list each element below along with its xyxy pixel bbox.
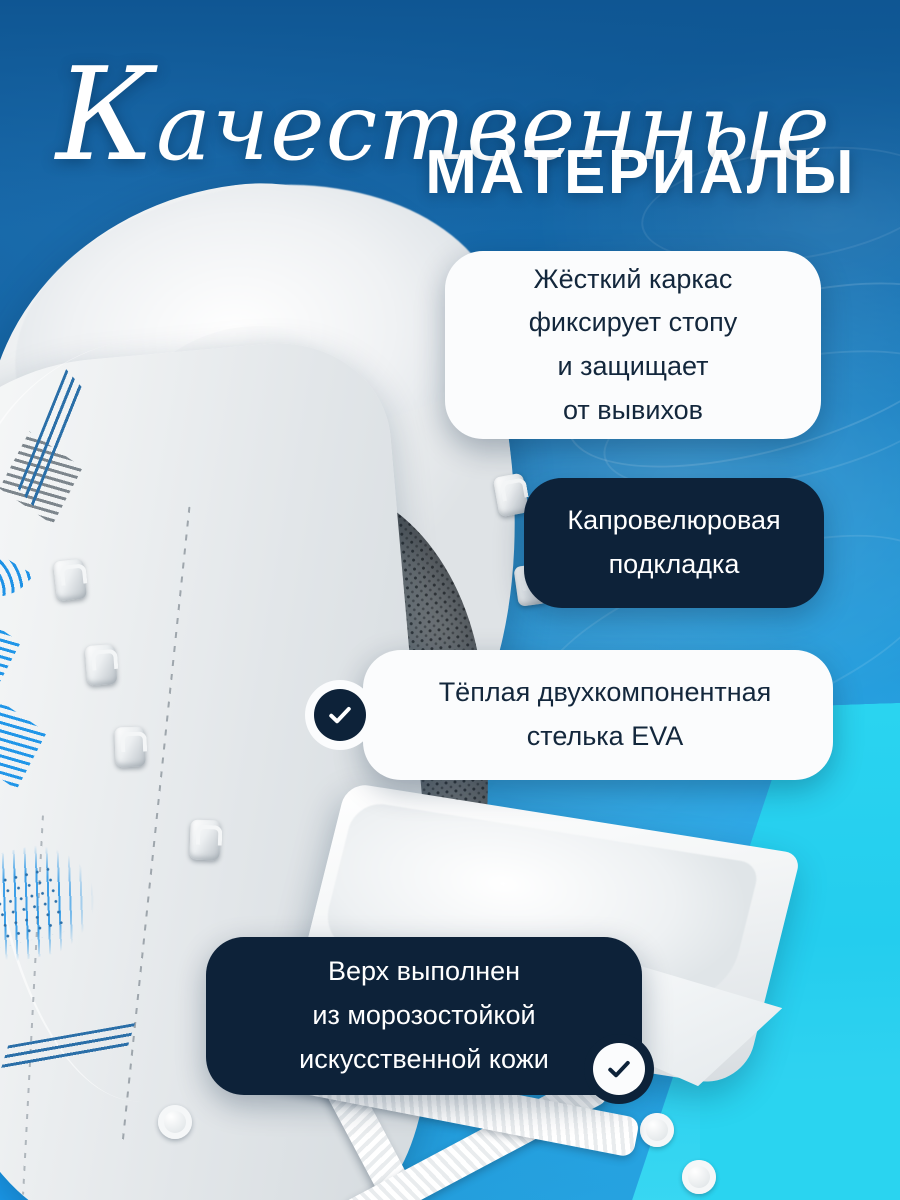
feature-card-text: Капровелюроваяподкладка bbox=[548, 499, 800, 586]
lace-hook bbox=[53, 559, 87, 602]
feature-card-rigid-frame: Жёсткий каркасфиксирует стопуи защищаето… bbox=[445, 251, 821, 439]
check-icon bbox=[314, 689, 366, 741]
feature-card-text: Верх выполнениз морозостойкойискусственн… bbox=[234, 950, 614, 1081]
lace-eyelet bbox=[158, 1105, 192, 1139]
check-icon bbox=[593, 1043, 645, 1095]
lace-hook bbox=[85, 644, 118, 686]
product-infographic-poster: Качественные МАТЕРИАЛЫ Жёсткий каркасфик… bbox=[0, 0, 900, 1200]
feature-card-insole: Тёплая двухкомпонентнаястелька EVA bbox=[363, 650, 833, 780]
lace-hook bbox=[114, 726, 145, 767]
lace-hook bbox=[189, 819, 220, 860]
feature-card-lining: Капровелюроваяподкладка bbox=[524, 478, 824, 608]
feature-card-upper-material: Верх выполнениз морозостойкойискусственн… bbox=[206, 937, 642, 1095]
feature-card-text: Тёплая двухкомпонентнаястелька EVA bbox=[407, 671, 803, 758]
feature-card-text: Жёсткий каркасфиксирует стопуи защищаето… bbox=[471, 258, 795, 433]
lace-eyelet bbox=[640, 1113, 674, 1147]
lace-eyelet bbox=[682, 1160, 716, 1194]
page-title-block: МАТЕРИАЛЫ bbox=[425, 142, 856, 204]
